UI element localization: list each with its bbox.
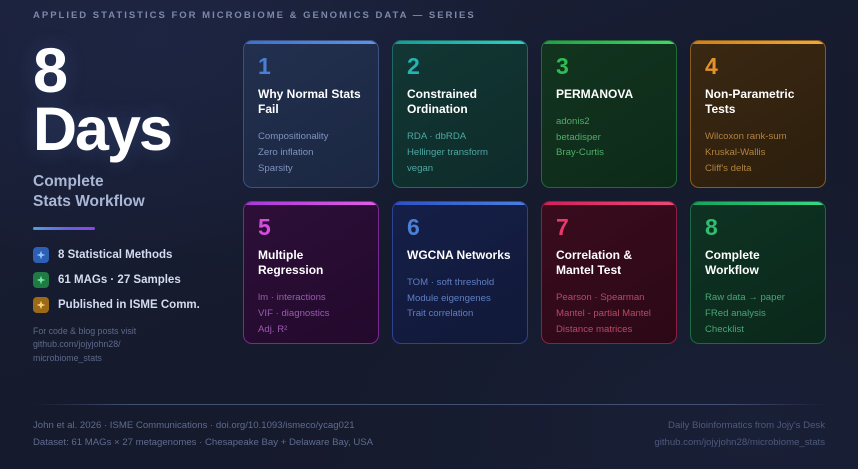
card-topic-item: Hellinger transform: [407, 145, 515, 161]
card-topic-list: adonis2betadisperBray-Curtis: [556, 114, 664, 161]
card-number: 2: [407, 55, 515, 78]
lesson-card[interactable]: 8Complete WorkflowRaw data → paperFRed a…: [690, 201, 826, 344]
card-topic-list: Wilcoxon rank-sumKruskal-WallisCliff's d…: [705, 129, 813, 176]
stat-badge: 8 Statistical Methods: [33, 247, 229, 263]
card-topic-item: Kruskal-Wallis: [705, 145, 813, 161]
card-accent-bar: [244, 202, 378, 205]
card-topic-item: betadisper: [556, 130, 664, 146]
card-number: 5: [258, 216, 366, 239]
card-number: 3: [556, 55, 664, 78]
card-title: WGCNA Networks: [407, 248, 515, 263]
card-title: Complete Workflow: [705, 248, 813, 278]
card-title: Non-Parametric Tests: [705, 87, 813, 117]
footer-citation-line2: Dataset: 61 MAGs × 27 metagenomes · Ches…: [33, 435, 373, 452]
lesson-card[interactable]: 4Non-Parametric TestsWilcoxon rank-sumKr…: [690, 40, 826, 188]
card-topic-list: TOM · soft thresholdModule eigengenesTra…: [407, 275, 515, 322]
lesson-card[interactable]: 1Why Normal Stats FailCompositionalityZe…: [243, 40, 379, 188]
card-topic-item: VIF · diagnostics: [258, 306, 366, 322]
footer-citation-line1: John et al. 2026 · ISME Communications ·…: [33, 418, 373, 435]
card-topic-item: Checklist: [705, 322, 813, 338]
stat-badge-list: 8 Statistical Methods61 MAGs · 27 Sample…: [33, 247, 229, 313]
card-topic-item: lm · interactions: [258, 290, 366, 306]
card-topic-list: Pearson · SpearmanMantel - partial Mante…: [556, 290, 664, 337]
series-kicker: Applied Statistics for Microbiome & Geno…: [33, 10, 476, 21]
card-topic-item: Pearson · Spearman: [556, 290, 664, 306]
sparkle-icon: [33, 247, 49, 263]
lesson-card[interactable]: 2Constrained OrdinationRDA · dbRDAHellin…: [392, 40, 528, 188]
code-note-line[interactable]: microbiome_stats: [33, 352, 229, 366]
card-number: 8: [705, 216, 813, 239]
hero-word: Days: [33, 101, 229, 157]
card-topic-item: Bray-Curtis: [556, 145, 664, 161]
card-topic-list: CompositionalityZero inflationSparsity: [258, 129, 366, 176]
code-note-line[interactable]: github.com/jojyjohn28/: [33, 338, 229, 352]
card-topic-list: Raw data → paperFRed analysisChecklist: [705, 290, 813, 337]
card-accent-bar: [691, 41, 825, 44]
card-title: Constrained Ordination: [407, 87, 515, 117]
card-number: 4: [705, 55, 813, 78]
card-accent-bar: [691, 202, 825, 205]
lesson-card[interactable]: 3PERMANOVAadonis2betadisperBray-Curtis: [541, 40, 677, 188]
footer-citation: John et al. 2026 · ISME Communications ·…: [33, 418, 373, 452]
stat-badge-label: 8 Statistical Methods: [58, 249, 172, 261]
poster-root: Applied Statistics for Microbiome & Geno…: [0, 0, 858, 469]
card-title: Multiple Regression: [258, 248, 366, 278]
card-topic-item: Distance matrices: [556, 322, 664, 338]
card-topic-item: Raw data → paper: [705, 290, 813, 306]
card-topic-list: lm · interactionsVIF · diagnosticsAdj. R…: [258, 290, 366, 337]
card-accent-bar: [393, 202, 527, 205]
card-accent-bar: [393, 41, 527, 44]
accent-rule: [33, 227, 95, 230]
hero-column: 8 Days Complete Stats Workflow 8 Statist…: [33, 44, 229, 366]
card-number: 1: [258, 55, 366, 78]
sparkle-icon: [33, 297, 49, 313]
card-number: 7: [556, 216, 664, 239]
card-topic-item: Compositionality: [258, 129, 366, 145]
card-topic-item: Trait correlation: [407, 306, 515, 322]
card-topic-item: adonis2: [556, 114, 664, 130]
card-accent-bar: [542, 41, 676, 44]
footer-attribution-line1: Daily Bioinformatics from Jojy's Desk: [654, 418, 825, 435]
card-topic-item: Cliff's delta: [705, 161, 813, 177]
card-topic-item: Adj. R²: [258, 322, 366, 338]
lesson-card-grid: 1Why Normal Stats FailCompositionalityZe…: [243, 40, 828, 344]
card-topic-item: Mantel - partial Mantel: [556, 306, 664, 322]
hero-subtitle-line2: Stats Workflow: [33, 192, 229, 213]
lesson-card[interactable]: 5Multiple Regressionlm · interactionsVIF…: [243, 201, 379, 344]
hero-subtitle-line1: Complete: [33, 172, 229, 193]
card-topic-item: vegan: [407, 161, 515, 177]
card-topic-item: Wilcoxon rank-sum: [705, 129, 813, 145]
code-note: For code & blog posts visitgithub.com/jo…: [33, 325, 229, 366]
hero-subtitle: Complete Stats Workflow: [33, 172, 229, 213]
lesson-card[interactable]: 7Correlation & Mantel TestPearson · Spea…: [541, 201, 677, 344]
stat-badge-label: 61 MAGs · 27 Samples: [58, 274, 181, 286]
card-topic-item: Sparsity: [258, 161, 366, 177]
card-topic-item: RDA · dbRDA: [407, 129, 515, 145]
card-title: Correlation & Mantel Test: [556, 248, 664, 278]
card-title: Why Normal Stats Fail: [258, 87, 366, 117]
card-accent-bar: [542, 202, 676, 205]
card-accent-bar: [244, 41, 378, 44]
lesson-card[interactable]: 6WGCNA NetworksTOM · soft thresholdModul…: [392, 201, 528, 344]
stat-badge: 61 MAGs · 27 Samples: [33, 272, 229, 288]
card-title: PERMANOVA: [556, 87, 664, 102]
card-topic-item: Zero inflation: [258, 145, 366, 161]
footer-attribution: Daily Bioinformatics from Jojy's Desk gi…: [654, 418, 825, 452]
footer-divider: [32, 404, 826, 405]
card-topic-item: FRed analysis: [705, 306, 813, 322]
card-topic-item: TOM · soft threshold: [407, 275, 515, 291]
card-topic-list: RDA · dbRDAHellinger transformvegan: [407, 129, 515, 176]
sparkle-icon: [33, 272, 49, 288]
card-topic-item: Module eigengenes: [407, 291, 515, 307]
stat-badge-label: Published in ISME Comm.: [58, 299, 200, 311]
card-number: 6: [407, 216, 515, 239]
code-note-line: For code & blog posts visit: [33, 325, 229, 339]
stat-badge: Published in ISME Comm.: [33, 297, 229, 313]
hero-number: 8: [33, 44, 229, 99]
footer-attribution-link[interactable]: github.com/jojyjohn28/microbiome_stats: [654, 435, 825, 452]
